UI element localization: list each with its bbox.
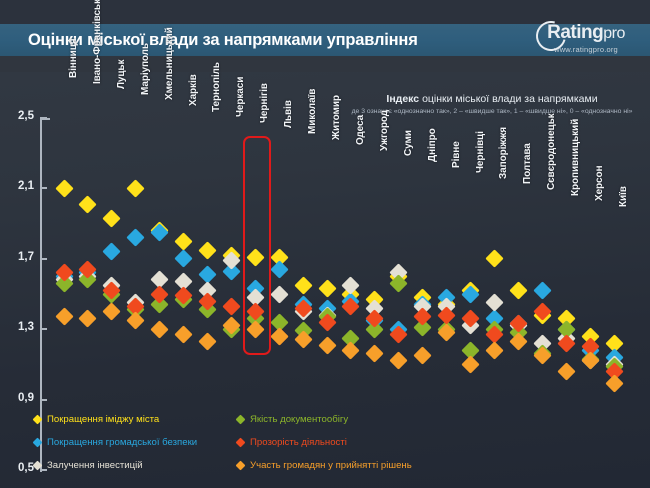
x-axis-city-label: Хмельницький [164, 28, 175, 101]
legend-marker-icon [33, 437, 43, 447]
legend-label: Прозорість діяльності [250, 437, 347, 448]
chart-canvas: Оцінки міської влади за напрямками управ… [0, 0, 650, 488]
x-axis-city-label: Одеса [355, 115, 366, 145]
legend-label: Якість документообігу [250, 414, 348, 425]
x-axis-city-label: Рівне [451, 141, 462, 168]
subtitle-line: Індекс оцінки міської влади за напрямкам… [336, 92, 648, 106]
x-axis-city-label: Суми [403, 131, 414, 157]
x-axis-city-label: Дніпро [427, 128, 438, 162]
data-point-image [174, 232, 192, 250]
legend-item-participation[interactable]: Участь громадян у прийнятті рішень [237, 460, 412, 473]
x-axis-city-label: Чернігів [259, 83, 270, 123]
y-axis-tick [40, 258, 47, 260]
data-point-safety [103, 243, 121, 261]
data-point-participation [581, 352, 599, 370]
x-axis-city-label: Харків [188, 74, 199, 106]
data-point-transparency [222, 297, 240, 315]
legend-item-image[interactable]: Покращення іміджу міста [34, 414, 159, 427]
data-point-image [103, 209, 121, 227]
legend-marker-icon [236, 460, 246, 470]
page-title: Оцінки міської влади за напрямками управ… [28, 27, 548, 53]
x-axis-city-label: Кропивницький [570, 118, 581, 195]
y-axis-tick-label: 2,5 [18, 110, 34, 122]
data-point-image [509, 281, 527, 299]
data-point-participation [413, 346, 431, 364]
data-point-participation [485, 341, 503, 359]
x-axis-city-label: Івано-Франківськ [92, 0, 103, 84]
legend-label: Покращення громадської безпеки [47, 437, 197, 448]
y-axis-tick-label: 1,3 [18, 321, 34, 333]
x-axis-city-label: Житомир [331, 95, 342, 140]
data-point-participation [461, 355, 479, 373]
data-point-participation [103, 302, 121, 320]
legend-marker-icon [236, 414, 246, 424]
subtitle-rest: оцінки міської влади за напрямками [419, 93, 597, 105]
legend-item-investment[interactable]: Залучення інвестицій [34, 460, 143, 473]
x-axis-city-label: Запоріжжя [498, 127, 509, 179]
legend-label: Покращення іміджу міста [47, 414, 159, 425]
data-point-image [318, 280, 336, 298]
ratingpro-logo: Ratingpro www.ratingpro.org [530, 22, 642, 66]
data-point-participation [390, 352, 408, 370]
highlight-box-chernihiv [243, 136, 271, 355]
legend-label: Залучення інвестицій [47, 460, 143, 471]
legend-marker-icon [236, 437, 246, 447]
data-point-investment [270, 285, 288, 303]
logo-suffix-text: pro [603, 25, 625, 42]
legend-item-documents[interactable]: Якість документообігу [237, 414, 348, 427]
data-point-image [294, 276, 312, 294]
legend-label: Участь громадян у прийнятті рішень [250, 460, 412, 471]
data-point-investment [485, 294, 503, 312]
x-axis-city-label: Сєвєродонецьк [546, 113, 557, 190]
x-axis-city-label: Черкаси [235, 77, 246, 117]
x-axis-city-label: Київ [618, 186, 629, 207]
y-axis-tick-label: 0,5 [18, 462, 34, 474]
data-point-participation [557, 362, 575, 380]
data-point-participation [605, 375, 623, 393]
x-axis-city-label: Херсон [594, 166, 605, 201]
y-axis-tick [40, 117, 47, 119]
legend-marker-icon [33, 460, 43, 470]
data-point-participation [55, 308, 73, 326]
x-axis-city-label: Львів [283, 101, 294, 129]
y-axis-tick [40, 187, 47, 189]
x-axis-city-label: Маріуполь [140, 43, 151, 95]
x-axis-city-label: Тернопіль [211, 62, 222, 112]
x-axis-city-label: Полтава [522, 144, 533, 185]
data-point-safety [270, 260, 288, 278]
x-axis-city-label: Миколаїв [307, 89, 318, 134]
legend-item-transparency[interactable]: Прозорість діяльності [237, 437, 347, 450]
legend-item-safety[interactable]: Покращення громадської безпеки [34, 437, 197, 450]
y-axis-tick-label: 1,7 [18, 251, 34, 263]
data-point-image [485, 250, 503, 268]
data-point-participation [174, 325, 192, 343]
data-point-safety [174, 250, 192, 268]
subtitle-bold-word: Індекс [386, 93, 419, 105]
data-point-participation [318, 336, 336, 354]
data-point-image [55, 179, 73, 197]
data-point-participation [198, 332, 216, 350]
legend-marker-icon [33, 414, 43, 424]
x-axis-city-label: Вінниця [68, 38, 79, 78]
y-axis-labels: 2,52,11,71,30,90,5 [0, 118, 34, 474]
data-point-participation [366, 345, 384, 363]
y-axis-tick-label: 0,9 [18, 392, 34, 404]
data-point-participation [270, 327, 288, 345]
data-point-participation [127, 311, 145, 329]
y-axis-tick-label: 2,1 [18, 180, 34, 192]
y-axis-tick [40, 399, 47, 401]
x-axis-city-label: Ужгород [379, 110, 390, 151]
data-point-image [198, 241, 216, 259]
data-point-participation [150, 320, 168, 338]
x-axis-city-label: Чернівці [475, 131, 486, 173]
data-point-image [127, 179, 145, 197]
data-point-image [79, 195, 97, 213]
data-point-participation [342, 341, 360, 359]
data-point-safety [127, 228, 145, 246]
y-axis-tick [40, 328, 47, 330]
x-axis-city-label: Луцьк [116, 60, 127, 89]
legend: Покращення іміджу містаПокращення громад… [34, 414, 504, 480]
data-point-participation [79, 309, 97, 327]
data-point-safety [533, 281, 551, 299]
